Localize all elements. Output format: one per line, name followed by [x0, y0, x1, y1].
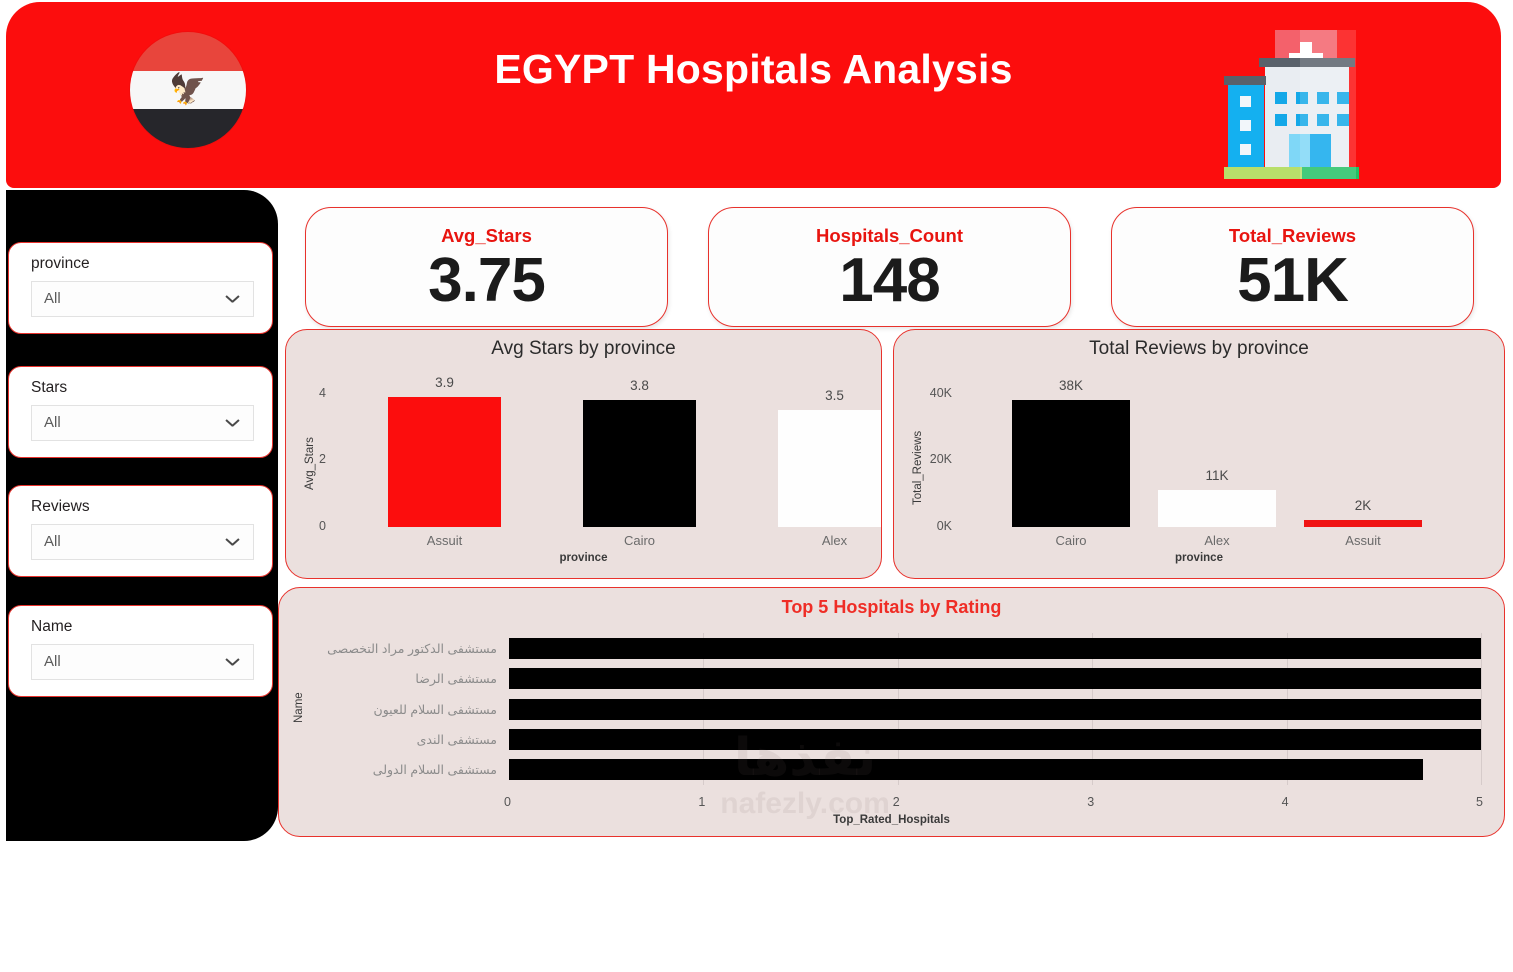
y-tick: مستشفى السلام الدولى: [373, 762, 497, 777]
y-axis-label: Name: [293, 692, 305, 723]
bar: [509, 668, 1481, 689]
bar: [509, 759, 1423, 780]
hospital-building-icon: [1213, 30, 1393, 172]
name-select[interactable]: All: [31, 644, 254, 680]
bar: [1304, 520, 1422, 527]
kpi-card-total-reviews: Total_Reviews 51K: [1111, 207, 1474, 327]
kpi-value: 51K: [1112, 245, 1473, 316]
bar-value-label: 3.5: [778, 388, 882, 403]
filter-card-reviews[interactable]: Reviews All: [8, 485, 273, 577]
x-tick: 3: [1087, 795, 1094, 809]
filter-label: province: [31, 255, 90, 273]
y-tick: 0: [319, 519, 326, 533]
filter-card-stars[interactable]: Stars All: [8, 366, 273, 458]
kpi-card-hospitals-count: Hospitals_Count 148: [708, 207, 1071, 327]
stars-select-value: All: [44, 414, 61, 431]
province-select-value: All: [44, 290, 61, 307]
x-tick: 1: [698, 795, 705, 809]
bar-value-label: 11K: [1158, 468, 1276, 483]
powered-by-line1: POWERED BY: [6, 902, 278, 937]
kpi-title: Total_Reviews: [1112, 225, 1473, 247]
chevron-down-icon: [226, 295, 239, 308]
chart-title: Total Reviews by province: [894, 338, 1504, 360]
kpi-title: Avg_Stars: [306, 225, 667, 247]
x-tick: Alex: [778, 533, 882, 548]
chart-title: Avg Stars by province: [286, 338, 881, 360]
y-tick: مستشفى الدكتور مراد التخصصى: [327, 641, 497, 656]
name-select-value: All: [44, 653, 61, 670]
filter-label: Stars: [31, 379, 67, 397]
chevron-down-icon: [226, 538, 239, 551]
y-tick: مستشفى الندى: [417, 732, 497, 747]
y-axis-label: Avg_Stars: [304, 437, 316, 490]
dashboard-header: 🦅 EGYPT Hospitals Analysis: [6, 2, 1501, 188]
x-tick: Alex: [1158, 533, 1276, 548]
province-select[interactable]: All: [31, 281, 254, 317]
gridline: [1481, 633, 1482, 785]
y-tick: 2: [319, 452, 326, 466]
x-tick: 5: [1476, 795, 1483, 809]
x-tick: Cairo: [583, 533, 696, 548]
filter-card-province[interactable]: province All: [8, 242, 273, 334]
bar-value-label: 3.8: [583, 378, 696, 393]
y-tick: 40K: [930, 386, 952, 400]
y-tick: مستشفى الرضا: [415, 671, 497, 686]
reviews-select[interactable]: All: [31, 524, 254, 560]
kpi-value: 3.75: [306, 245, 667, 316]
kpi-value: 148: [709, 245, 1070, 316]
bar-value-label: 2K: [1304, 498, 1422, 513]
x-tick: 2: [893, 795, 900, 809]
x-tick: 4: [1282, 795, 1289, 809]
kpi-title: Hospitals_Count: [709, 225, 1070, 247]
bar: [583, 400, 696, 527]
powered-by-credit: POWERED BY MO_SALAH: [6, 902, 278, 972]
stars-select[interactable]: All: [31, 405, 254, 441]
chart-card-avg-stars-by-province: Avg Stars by province Avg_Stars province…: [285, 329, 882, 579]
y-axis-label: Total_Reviews: [912, 431, 924, 505]
x-tick: Cairo: [1012, 533, 1130, 548]
bar: [388, 397, 501, 527]
filter-card-name[interactable]: Name All: [8, 605, 273, 697]
y-tick: 4: [319, 386, 326, 400]
powered-by-line2: MO_SALAH: [6, 937, 278, 972]
bar: [509, 729, 1481, 750]
y-tick: 0K: [937, 519, 952, 533]
x-axis-label: province: [894, 552, 1504, 564]
y-tick: 20K: [930, 452, 952, 466]
chart-title: Top 5 Hospitals by Rating: [279, 597, 1504, 618]
x-tick: Assuit: [1304, 533, 1422, 548]
x-axis-label: province: [286, 552, 881, 564]
x-tick: 0: [504, 795, 511, 809]
bar: [1012, 400, 1130, 527]
filter-label: Reviews: [31, 498, 90, 516]
chart-card-total-reviews-by-province: Total Reviews by province Total_Reviews …: [893, 329, 1505, 579]
x-tick: Assuit: [388, 533, 501, 548]
reviews-select-value: All: [44, 533, 61, 550]
x-axis-label: Top_Rated_Hospitals: [279, 814, 1504, 826]
bar: [509, 638, 1481, 659]
bar-value-label: 38K: [1012, 378, 1130, 393]
bar: [509, 699, 1481, 720]
bar-value-label: 3.9: [388, 375, 501, 390]
chart-card-top5-hospitals: Top 5 Hospitals by Rating Name Top_Rated…: [278, 587, 1505, 837]
kpi-card-avg-stars: Avg_Stars 3.75: [305, 207, 668, 327]
bar: [1158, 490, 1276, 527]
bar: [778, 410, 882, 527]
chevron-down-icon: [226, 658, 239, 671]
chevron-down-icon: [226, 419, 239, 432]
filter-label: Name: [31, 618, 72, 636]
y-tick: مستشفى السلام للعيون: [374, 702, 497, 717]
